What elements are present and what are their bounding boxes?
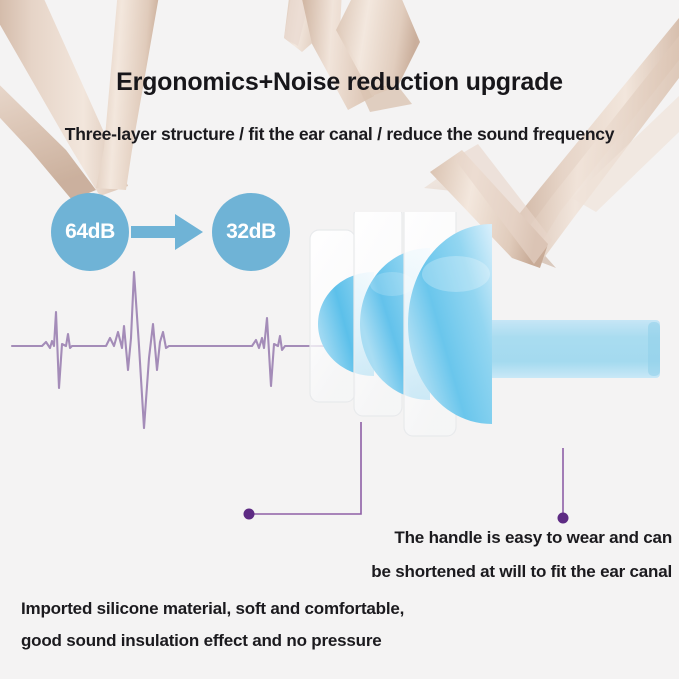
material-caption-line2: good sound insulation effect and no pres…: [21, 631, 382, 651]
handle-caption-line1: The handle is easy to wear and can: [0, 528, 672, 548]
product-infographic-poster: Ergonomics+Noise reduction upgrade Three…: [0, 0, 679, 679]
noise-after-badge: 32dB: [212, 193, 290, 271]
noise-before-badge: 64dB: [51, 193, 129, 271]
material-caption-line1: Imported silicone material, soft and com…: [21, 599, 404, 619]
page-title: Ergonomics+Noise reduction upgrade: [0, 68, 679, 97]
annotation-leader-lines: [0, 400, 679, 540]
handle-caption-line2: be shortened at will to fit the ear cana…: [0, 562, 672, 582]
page-subtitle: Three-layer structure / fit the ear cana…: [0, 124, 679, 145]
right-arrow-icon: [129, 208, 205, 256]
